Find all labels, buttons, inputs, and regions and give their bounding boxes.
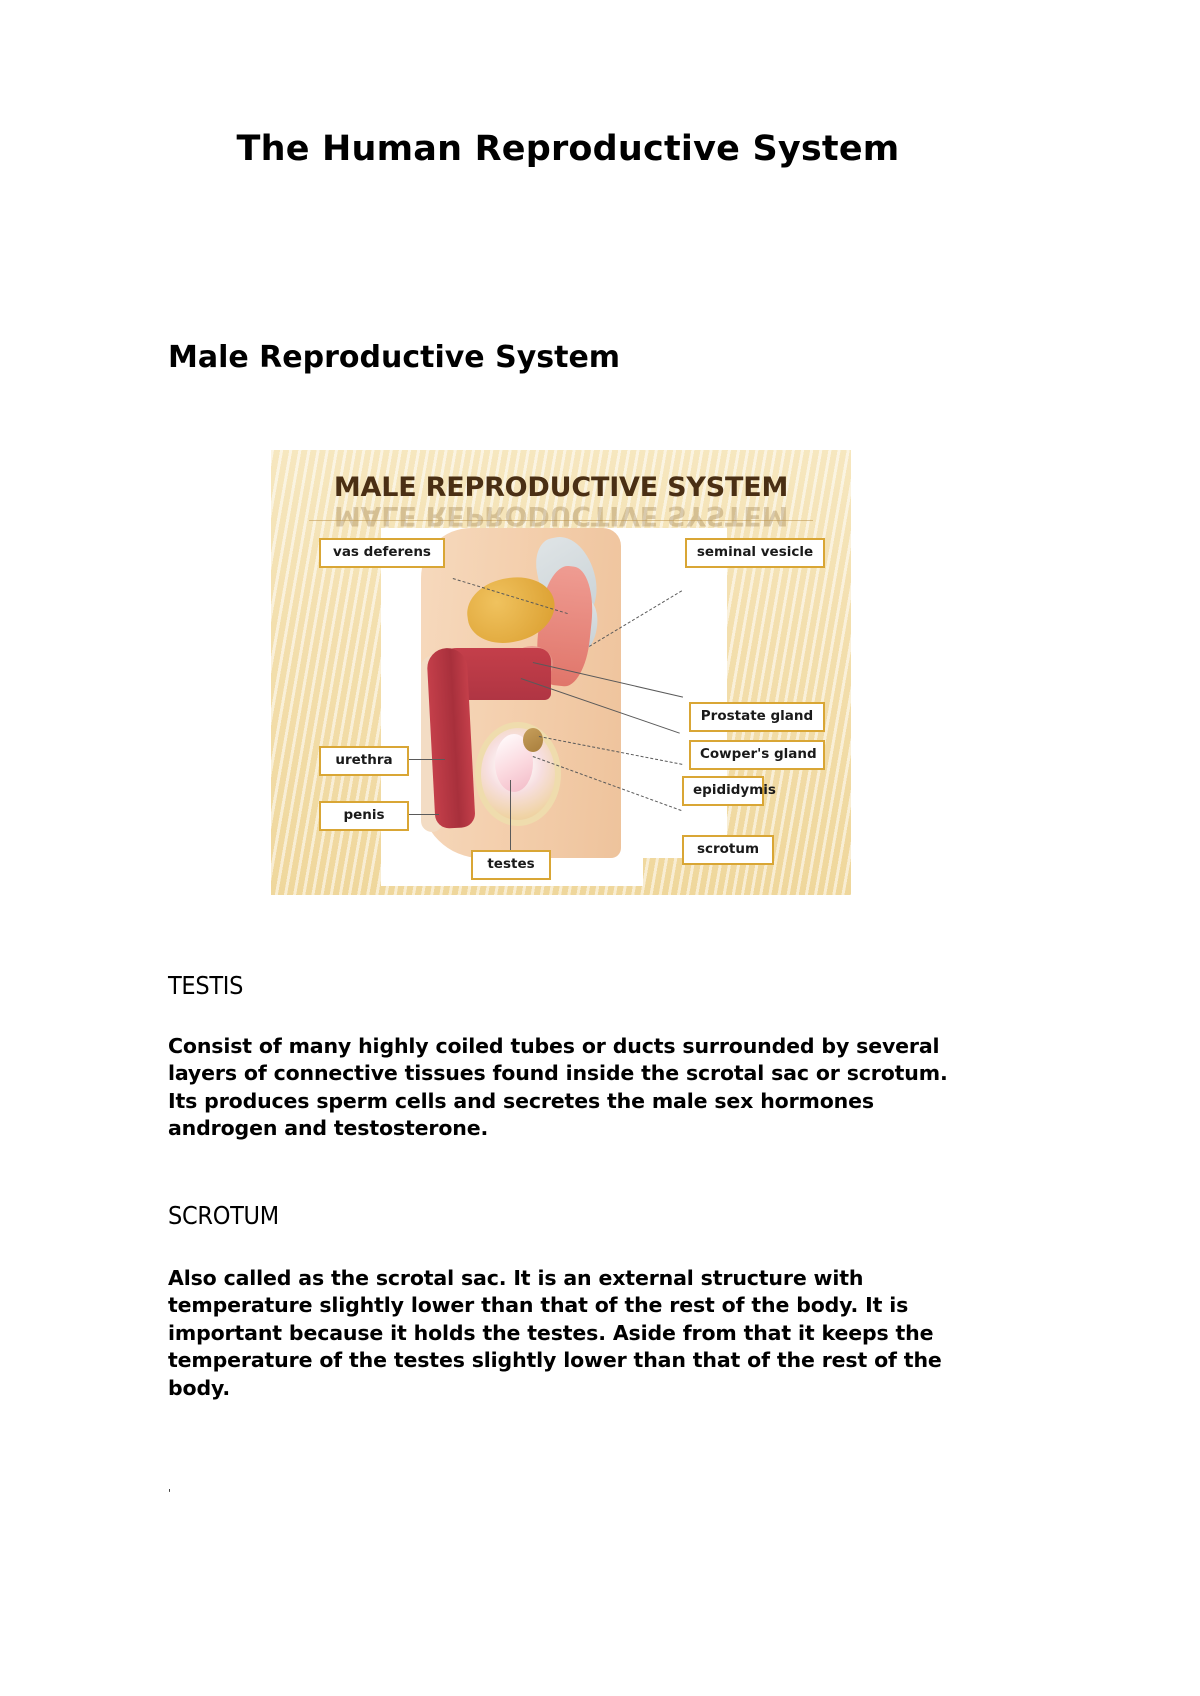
label-text: Prostate gland	[701, 708, 813, 724]
spacer	[168, 1143, 968, 1201]
subsection-body-scrotum: Also called as the scrotal sac. It is an…	[168, 1265, 968, 1402]
figure-title-reflection: MALE REPRODUCTIVE SYSTEM	[271, 500, 851, 531]
spacer	[168, 1231, 968, 1265]
section-heading-male-reproductive-system: Male Reproductive System	[168, 232, 968, 376]
spacer	[168, 1001, 968, 1033]
diagram-label-urethra: urethra	[319, 746, 409, 776]
diagram-label-prostate-gland: Prostate gland	[689, 702, 825, 732]
subsection-heading-testis: TESTIS	[168, 971, 968, 1001]
spacer	[168, 376, 968, 450]
diagram-label-epididymis: epididymis	[682, 776, 764, 806]
diagram-label-vas-deferens: vas deferens	[319, 538, 445, 568]
spacer	[168, 895, 968, 971]
subsection-heading-scrotum: SCROTUM	[168, 1201, 968, 1231]
page-title: The Human Reproductive System	[168, 0, 968, 170]
figure-divider	[309, 520, 813, 521]
label-text: urethra	[335, 752, 392, 768]
diagram-label-scrotum: scrotum	[682, 835, 774, 865]
document-page: The Human Reproductive System Male Repro…	[0, 0, 1200, 1696]
label-text: epididymis	[693, 782, 776, 798]
anatomy-epididymis	[523, 728, 543, 752]
label-text: testes	[487, 856, 534, 872]
male-reproductive-system-diagram: MALE REPRODUCTIVE SYSTEM MALE REPRODUCTI…	[271, 450, 851, 895]
diagram-label-testes: testes	[471, 850, 551, 880]
footer-mark: '	[168, 1487, 171, 1500]
label-text: vas deferens	[333, 544, 431, 560]
leader-line-penis	[409, 814, 439, 815]
figure-title: MALE REPRODUCTIVE SYSTEM	[271, 472, 851, 503]
document-content: The Human Reproductive System Male Repro…	[168, 0, 968, 1402]
diagram-label-cowpers-gland: Cowper's gland	[689, 740, 825, 770]
subsection-body-testis: Consist of many highly coiled tubes or d…	[168, 1033, 968, 1143]
label-text: scrotum	[697, 841, 759, 857]
diagram-label-seminal-vesicle: seminal vesicle	[685, 538, 825, 568]
label-text: Cowper's gland	[700, 746, 817, 762]
leader-line-urethra	[409, 759, 445, 760]
leader-line-testes	[510, 780, 511, 852]
spacer	[168, 170, 968, 232]
label-text: penis	[343, 807, 384, 823]
diagram-label-penis: penis	[319, 801, 409, 831]
label-text: seminal vesicle	[697, 544, 813, 560]
